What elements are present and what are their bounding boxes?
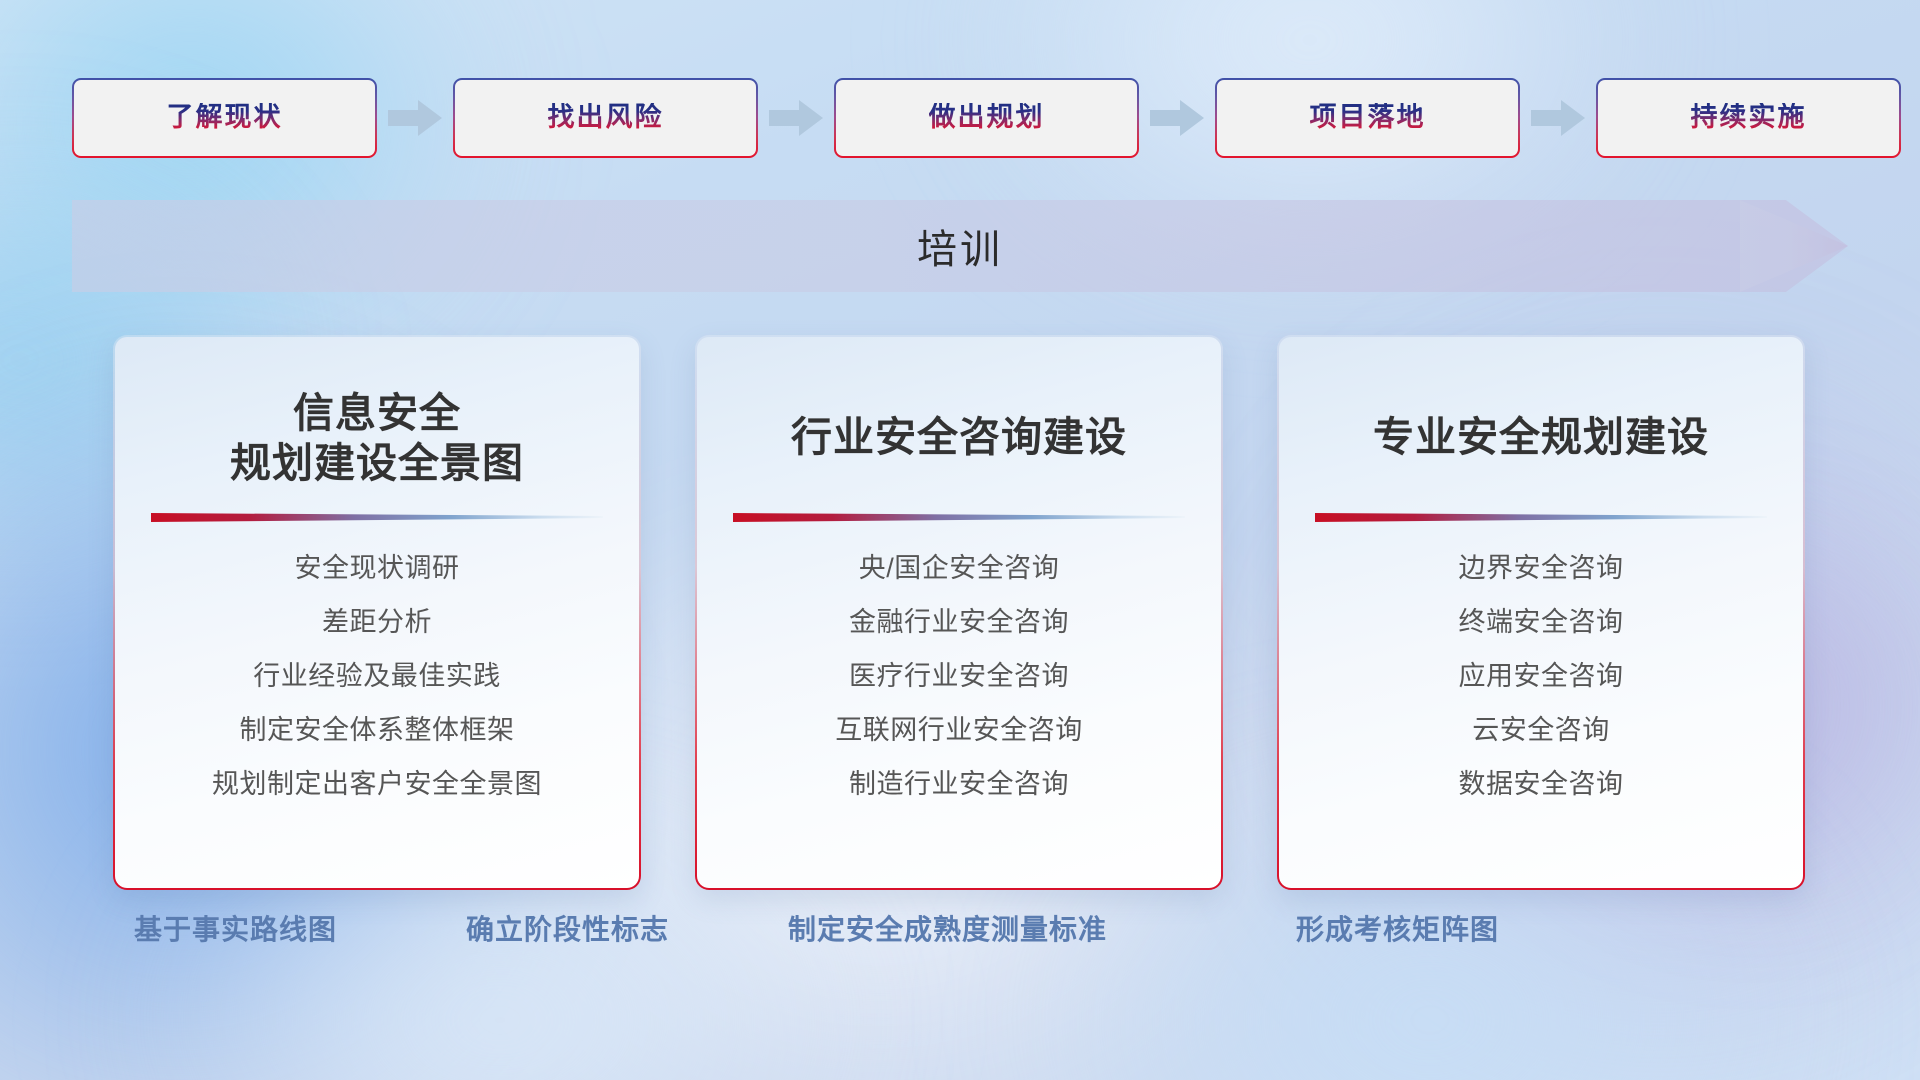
process-step-1-label: 找出风险 bbox=[548, 103, 664, 133]
process-step-0-inner: 了解现状 bbox=[74, 80, 375, 156]
footnote-1: 确立阶段性标志 bbox=[466, 910, 669, 950]
card-information-security-blueprint[interactable]: 信息安全 规划建设全景图 bbox=[113, 335, 641, 890]
card-1-title-line-1: 规划建设全景图 bbox=[230, 440, 524, 486]
process-step-4-inner: 持续实施 bbox=[1598, 80, 1899, 156]
right-arrow-icon bbox=[384, 96, 446, 140]
process-step-4[interactable]: 持续实施 bbox=[1596, 78, 1901, 158]
list-item: 规划制定出客户安全全景图 bbox=[212, 771, 542, 798]
list-item: 制造行业安全咨询 bbox=[849, 771, 1069, 798]
list-item: 行业经验及最佳实践 bbox=[253, 663, 501, 690]
list-item: 医疗行业安全咨询 bbox=[849, 663, 1069, 690]
process-step-3-label: 项目落地 bbox=[1310, 103, 1426, 133]
card-1-inner: 信息安全 规划建设全景图 bbox=[115, 337, 639, 888]
footnote-3: 形成考核矩阵图 bbox=[1296, 910, 1499, 950]
card-1-title: 信息安全 规划建设全景图 bbox=[230, 385, 524, 491]
card-2-divider bbox=[733, 509, 1185, 525]
list-item: 互联网行业安全咨询 bbox=[835, 717, 1083, 744]
footnote-0: 基于事实路线图 bbox=[134, 910, 337, 950]
process-step-4-label: 持续实施 bbox=[1691, 103, 1807, 133]
card-professional-security-planning[interactable]: 专业安全规划建设 bbox=[1277, 335, 1805, 890]
list-item: 应用安全咨询 bbox=[1459, 663, 1624, 690]
process-step-3-inner: 项目落地 bbox=[1217, 80, 1518, 156]
list-item: 差距分析 bbox=[322, 609, 432, 636]
process-step-2-inner: 做出规划 bbox=[836, 80, 1137, 156]
slide-content: 了解现状 找出风险 做出规划 bbox=[0, 0, 1920, 1080]
card-2-title: 行业安全咨询建设 bbox=[791, 385, 1127, 491]
list-item: 终端安全咨询 bbox=[1459, 609, 1624, 636]
process-step-2-label: 做出规划 bbox=[929, 103, 1045, 133]
card-3-list: 边界安全咨询 终端安全咨询 应用安全咨询 云安全咨询 数据安全咨询 bbox=[1309, 555, 1773, 798]
footnote-row: 基于事实路线图 确立阶段性标志 制定安全成熟度测量标准 形成考核矩阵图 bbox=[0, 910, 1920, 970]
footnote-2: 制定安全成熟度测量标准 bbox=[788, 910, 1107, 950]
process-step-3[interactable]: 项目落地 bbox=[1215, 78, 1520, 158]
list-item: 制定安全体系整体框架 bbox=[240, 717, 515, 744]
list-item: 金融行业安全咨询 bbox=[849, 609, 1069, 636]
process-step-0[interactable]: 了解现状 bbox=[72, 78, 377, 158]
card-1-title-line-0: 信息安全 bbox=[293, 390, 461, 436]
card-3-divider bbox=[1315, 509, 1767, 525]
list-item: 数据安全咨询 bbox=[1459, 771, 1624, 798]
list-item: 边界安全咨询 bbox=[1459, 555, 1624, 582]
card-industry-security-consulting[interactable]: 行业安全咨询建设 bbox=[695, 335, 1223, 890]
card-3-title: 专业安全规划建设 bbox=[1373, 385, 1709, 491]
process-step-0-label: 了解现状 bbox=[167, 103, 283, 133]
card-1-divider bbox=[151, 509, 603, 525]
process-step-row: 了解现状 找出风险 做出规划 bbox=[72, 78, 1848, 158]
card-2-list: 央/国企安全咨询 金融行业安全咨询 医疗行业安全咨询 互联网行业安全咨询 制造行… bbox=[727, 555, 1191, 798]
card-group: 信息安全 规划建设全景图 bbox=[0, 335, 1920, 890]
list-item: 央/国企安全咨询 bbox=[859, 555, 1060, 582]
training-title: 培训 bbox=[72, 200, 1848, 292]
card-3-inner: 专业安全规划建设 bbox=[1279, 337, 1803, 888]
card-1-list: 安全现状调研 差距分析 行业经验及最佳实践 制定安全体系整体框架 规划制定出客户… bbox=[145, 555, 609, 798]
training-banner: 培训 bbox=[72, 200, 1848, 292]
right-arrow-icon bbox=[1146, 96, 1208, 140]
right-arrow-icon bbox=[1527, 96, 1589, 140]
right-arrow-icon bbox=[765, 96, 827, 140]
process-step-1[interactable]: 找出风险 bbox=[453, 78, 758, 158]
process-step-1-inner: 找出风险 bbox=[455, 80, 756, 156]
list-item: 安全现状调研 bbox=[295, 555, 460, 582]
list-item: 云安全咨询 bbox=[1472, 717, 1610, 744]
process-step-2[interactable]: 做出规划 bbox=[834, 78, 1139, 158]
card-2-inner: 行业安全咨询建设 bbox=[697, 337, 1221, 888]
